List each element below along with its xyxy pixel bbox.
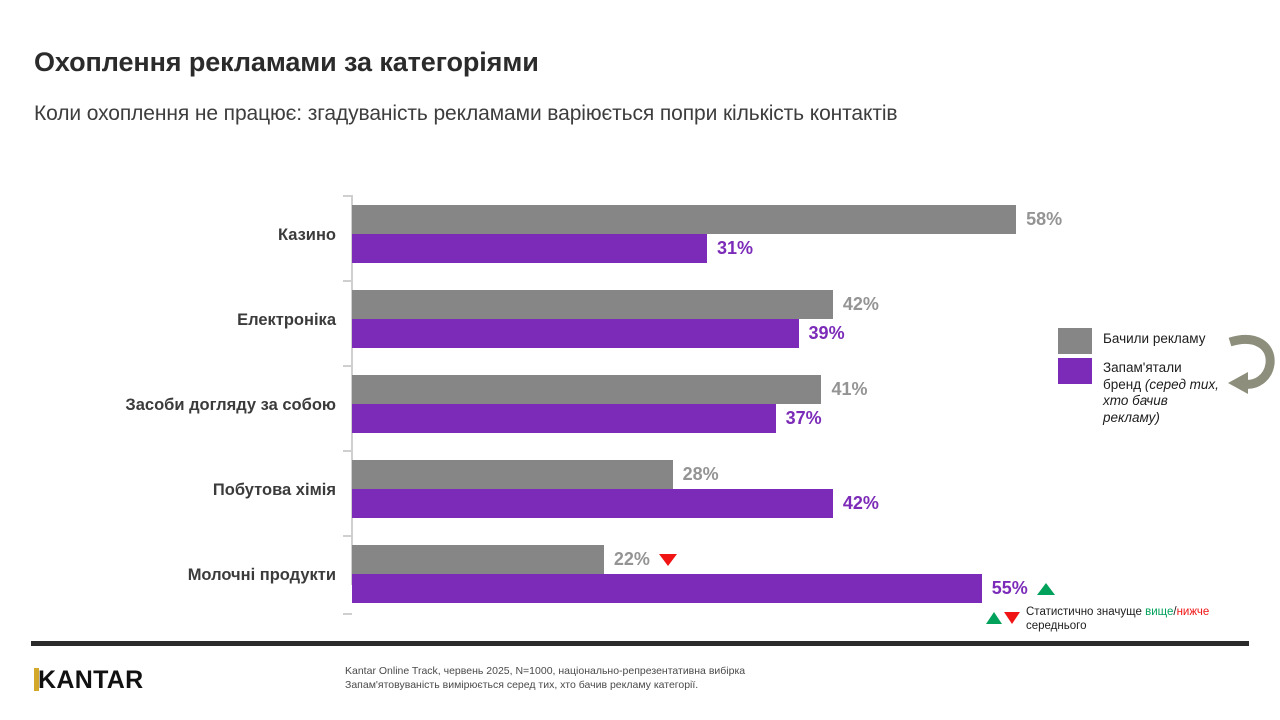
bar-recalled[interactable] xyxy=(352,319,799,348)
significance-lower: нижче xyxy=(1177,606,1210,618)
bar-seen[interactable] xyxy=(352,375,821,404)
purple-swatch-icon xyxy=(1058,358,1092,384)
category-label: Електроніка xyxy=(237,311,336,330)
axis-tick xyxy=(343,365,352,367)
axis-tick xyxy=(343,535,352,537)
significance-note-text: Статистично значуще вище/нижчесереднього xyxy=(1026,605,1209,633)
bar-seen[interactable] xyxy=(352,290,833,319)
page-title: Охоплення рекламами за категоріями xyxy=(34,47,539,78)
bar-value-text: 22% xyxy=(614,549,650,570)
grey-swatch-icon xyxy=(1058,328,1092,354)
bar-value-text: 58% xyxy=(1026,209,1062,230)
bar-recalled[interactable] xyxy=(352,489,833,518)
bar-value-text: 55% xyxy=(992,578,1028,599)
significance-suffix: середнього xyxy=(1026,620,1086,632)
logo-text: KANTAR xyxy=(38,666,144,695)
bar-value-text: 42% xyxy=(843,493,879,514)
axis-tick xyxy=(343,450,352,452)
bar-value-label: 28% xyxy=(683,460,719,489)
bar-value-label: 41% xyxy=(831,375,867,404)
bar-value-label: 22% xyxy=(614,545,677,574)
bar-value-text: 41% xyxy=(831,379,867,400)
bar-value-label: 55% xyxy=(992,574,1055,603)
bar-value-text: 42% xyxy=(843,294,879,315)
bar-value-label: 42% xyxy=(843,290,879,319)
category-label: Побутова хімія xyxy=(213,481,336,500)
significance-prefix: Статистично значуще xyxy=(1026,606,1145,618)
axis-tick xyxy=(343,280,352,282)
bar-recalled[interactable] xyxy=(352,404,776,433)
red-down-triangle-icon xyxy=(659,554,677,566)
category-label: Молочні продукти xyxy=(188,566,336,585)
bar-value-label: 37% xyxy=(786,404,822,433)
bar-value-label: 42% xyxy=(843,489,879,518)
bar-value-label: 31% xyxy=(717,234,753,263)
category-label: Казино xyxy=(278,226,336,245)
bar-value-text: 37% xyxy=(786,408,822,429)
source-line-1: Kantar Online Track, червень 2025, N=100… xyxy=(345,664,745,678)
axis-tick xyxy=(343,613,352,615)
bar-value-text: 28% xyxy=(683,464,719,485)
bar-value-text: 31% xyxy=(717,238,753,259)
legend-label-recalled: Запам'ятали бренд (серед тих, хто бачив … xyxy=(1103,360,1221,426)
bar-value-text: 39% xyxy=(809,323,845,344)
legend-label-seen: Бачили рекламу xyxy=(1103,331,1205,348)
bar-seen[interactable] xyxy=(352,460,673,489)
bar-seen[interactable] xyxy=(352,205,1016,234)
footer-divider xyxy=(31,641,1249,646)
bar-recalled[interactable] xyxy=(352,234,707,263)
bar-chart: Казино58%31%Електроніка42%39%Засоби догл… xyxy=(0,190,1280,590)
bar-seen[interactable] xyxy=(352,545,604,574)
green-up-triangle-icon xyxy=(1037,583,1055,595)
source-line-2: Запам'ятовуваність вимірюється серед тих… xyxy=(345,678,745,692)
slide-canvas: Охоплення рекламами за категоріями Коли … xyxy=(0,0,1280,720)
bar-value-label: 39% xyxy=(809,319,845,348)
bar-value-label: 58% xyxy=(1026,205,1062,234)
significance-triangles-icon xyxy=(985,611,1021,625)
page-subtitle: Коли охоплення не працює: згадуваність р… xyxy=(34,102,897,126)
bar-recalled[interactable] xyxy=(352,574,982,603)
significance-higher: вище xyxy=(1145,606,1173,618)
category-label: Засоби догляду за собою xyxy=(125,396,336,415)
curved-arrow-icon xyxy=(1222,326,1276,396)
source-note: Kantar Online Track, червень 2025, N=100… xyxy=(345,664,745,692)
axis-tick xyxy=(343,195,352,197)
